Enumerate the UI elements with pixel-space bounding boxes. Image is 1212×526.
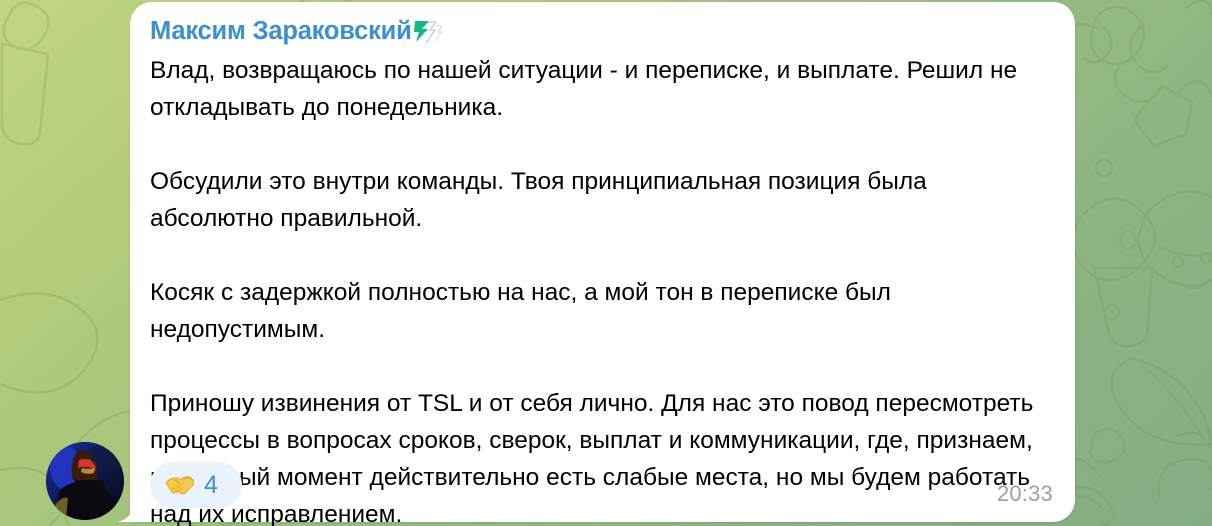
bubble-tail-icon bbox=[118, 496, 140, 522]
message-timestamp: 20:33 bbox=[997, 483, 1053, 505]
message-bubble[interactable]: Максим Зараковский Влад, возвращаюсь по … bbox=[130, 2, 1075, 522]
reaction-chip-handshake[interactable]: 4 bbox=[150, 462, 242, 508]
message-text: Влад, возвращаюсь по нашей ситуации - и … bbox=[150, 52, 1053, 526]
sender-name-row[interactable]: Максим Зараковский bbox=[150, 16, 1053, 46]
verified-emoji-status-icon bbox=[412, 18, 446, 46]
sender-name[interactable]: Максим Зараковский bbox=[150, 16, 412, 46]
reaction-count: 4 bbox=[204, 473, 218, 498]
chat-screen: Максим Зараковский Влад, возвращаюсь по … bbox=[0, 0, 1212, 526]
bubble-footer: 4 20:33 bbox=[150, 462, 1053, 508]
handshake-emoji bbox=[164, 470, 194, 500]
avatar[interactable] bbox=[46, 442, 124, 520]
